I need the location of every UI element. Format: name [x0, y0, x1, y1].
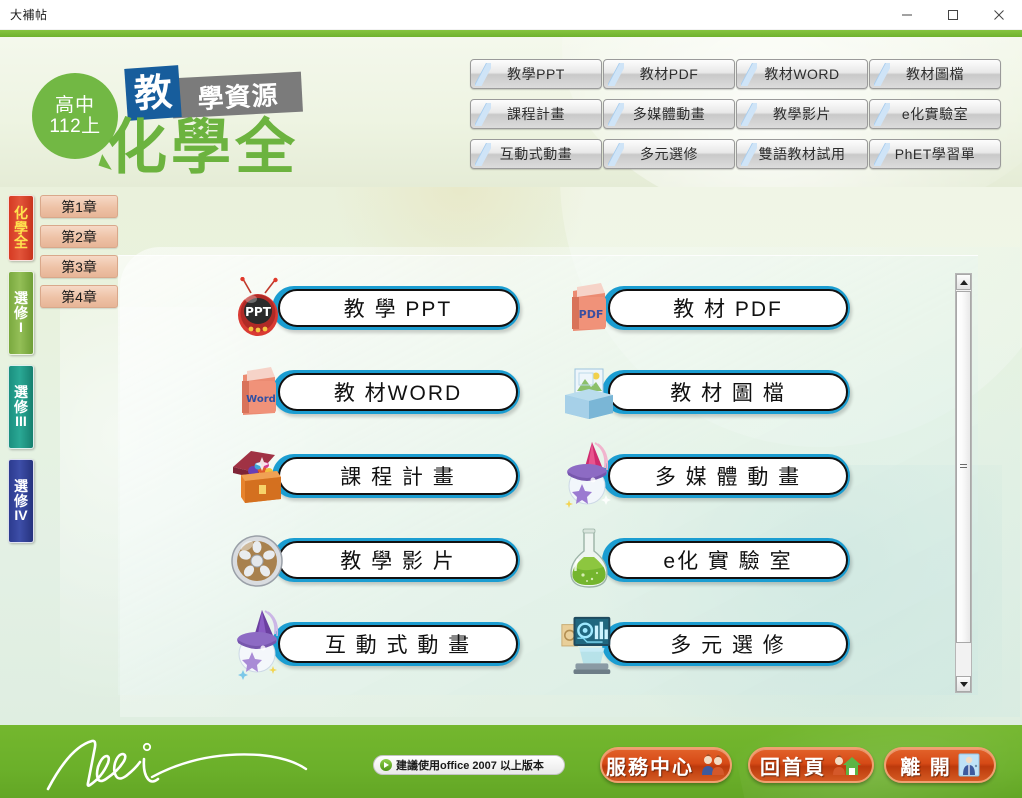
svg-text:PPT: PPT	[245, 305, 272, 319]
word-folder-icon: Word	[228, 356, 290, 428]
menu-item-images[interactable]: 教 材 圖 檔	[558, 352, 858, 436]
scroll-down-arrow-icon	[960, 682, 968, 687]
quick-button-ppt[interactable]: 教學PPT	[470, 59, 602, 89]
quick-button-label: 多媒體動畫	[633, 104, 706, 124]
chapter-button-3[interactable]: 第3章	[40, 255, 118, 278]
menu-item-word[interactable]: 教 材WORD Word	[228, 352, 528, 436]
menu-item-label: 教 學 PPT	[278, 289, 518, 327]
tab-char: 選	[14, 479, 28, 494]
application-window: 大補帖 高中 112上 學資源	[0, 0, 1022, 798]
flask-icon	[558, 524, 620, 596]
menu-item-ppt[interactable]: 教 學 PPT PPT	[228, 268, 528, 352]
menu-item-video[interactable]: 教 學 影 片	[228, 520, 528, 604]
chapter-list: 第1章 第2章 第3章 第4章	[40, 195, 118, 315]
scroll-up-button[interactable]	[956, 274, 971, 290]
menu-item-label: 教 學 影 片	[278, 541, 518, 579]
menu-pill: 課 程 計 畫	[272, 454, 520, 498]
tab-char: IV	[14, 508, 27, 523]
menu-item-label: 課 程 計 畫	[278, 457, 518, 495]
maximize-button[interactable]	[930, 0, 976, 30]
quick-access-buttons: 教學PPT 教材PDF 教材WORD 教材圖檔 課程計畫 多媒體動畫	[470, 59, 1001, 169]
menu-item-syllabus[interactable]: 課 程 計 畫	[228, 436, 528, 520]
vertical-scrollbar[interactable]	[955, 273, 972, 693]
menu-pill: 互 動 式 動 畫	[272, 622, 520, 666]
menu-pill: 教 材WORD	[272, 370, 520, 414]
menu-pill: 多 元 選 修	[602, 622, 850, 666]
chapter-button-2[interactable]: 第2章	[40, 225, 118, 248]
close-button[interactable]	[976, 0, 1022, 30]
tab-char: 選	[14, 291, 28, 306]
menu-item-label: 多 媒 體 動 畫	[608, 457, 848, 495]
menu-item-elective[interactable]: 多 元 選 修	[558, 604, 858, 688]
content-stage: 化 學 全 選 修 I 選 修 III 選 修 IV 第1章 第2章	[0, 187, 1022, 725]
people-icon	[700, 753, 726, 777]
quick-button-multimedia[interactable]: 多媒體動畫	[603, 99, 735, 129]
play-icon	[380, 759, 392, 771]
home-label: 回首頁	[760, 751, 826, 780]
quick-button-elab[interactable]: e化實驗室	[869, 99, 1001, 129]
menu-item-interactive[interactable]: 互 動 式 動 畫	[228, 604, 528, 688]
subject-tabs: 化 學 全 選 修 I 選 修 III 選 修 IV	[8, 195, 36, 553]
quick-button-label: 雙語教材試用	[759, 144, 846, 164]
home-icon	[832, 753, 862, 777]
grade-term: 112上	[49, 116, 100, 137]
quick-button-label: 教學PPT	[507, 64, 565, 84]
scroll-up-arrow-icon	[960, 280, 968, 285]
tab-char: 修	[14, 494, 28, 509]
quick-button-images[interactable]: 教材圖檔	[869, 59, 1001, 89]
menu-item-label: 教 材 PDF	[608, 289, 848, 327]
resource-panel: 教 學 PPT PPT	[118, 255, 978, 695]
tab-char: 化	[14, 206, 28, 221]
service-center-button[interactable]: 服務中心	[600, 747, 732, 783]
service-center-label: 服務中心	[606, 751, 694, 780]
menu-item-label: 互 動 式 動 畫	[278, 625, 518, 663]
quick-button-phet[interactable]: PhET學習單	[869, 139, 1001, 169]
quick-button-word[interactable]: 教材WORD	[736, 59, 868, 89]
window-title: 大補帖	[0, 6, 48, 23]
tab-char: III	[15, 414, 27, 429]
grade-level: 高中	[55, 95, 95, 116]
page-header: 高中 112上 學資源 教 化學全 教學PPT 教材PDF 教材WORD	[0, 37, 1022, 187]
menu-item-label: 多 元 選 修	[608, 625, 848, 663]
pencil-icon	[874, 103, 890, 126]
office-note-text: 建議使用office 2007 以上版本	[396, 757, 544, 773]
resource-label: 學資源	[173, 72, 303, 119]
quick-button-pdf[interactable]: 教材PDF	[603, 59, 735, 89]
menu-pill: e化 實 驗 室	[602, 538, 850, 582]
exit-label: 離 開	[900, 751, 952, 780]
quick-button-label: 教材圖檔	[906, 64, 964, 84]
tab-char: 學	[14, 221, 28, 236]
thumb-grip-icon	[960, 464, 967, 470]
menu-pill: 教 材 圖 檔	[602, 370, 850, 414]
pencil-icon	[874, 63, 890, 86]
treasure-box-icon	[228, 440, 290, 512]
quick-button-label: 課程計畫	[507, 104, 565, 124]
sidebar-item-elective-1[interactable]: 選 修 I	[8, 271, 34, 355]
menu-item-elab[interactable]: e化 實 驗 室	[558, 520, 858, 604]
pencil-icon	[608, 143, 624, 166]
quick-button-label: e化實驗室	[902, 104, 968, 124]
menu-pill: 多 媒 體 動 畫	[602, 454, 850, 498]
quick-button-label: PhET學習單	[895, 144, 976, 164]
brand-logo-nani	[40, 729, 340, 795]
sidebar-item-elective-3[interactable]: 選 修 III	[8, 365, 34, 449]
resource-menu-grid: 教 學 PPT PPT	[228, 268, 888, 688]
quick-button-bilingual[interactable]: 雙語教材試用	[736, 139, 868, 169]
image-archive-icon	[558, 356, 620, 428]
tab-char: 全	[14, 235, 28, 250]
menu-pill: 教 學 PPT	[272, 286, 520, 330]
menu-item-multimedia[interactable]: 多 媒 體 動 畫	[558, 436, 858, 520]
quick-button-label: 教材PDF	[640, 64, 699, 84]
pencil-icon	[874, 143, 890, 166]
pencil-icon	[741, 143, 757, 166]
office-version-note: 建議使用office 2007 以上版本	[373, 755, 565, 775]
menu-item-label: 教 材 圖 檔	[608, 373, 848, 411]
menu-item-pdf[interactable]: 教 材 PDF PDF	[558, 268, 858, 352]
maximize-icon	[947, 9, 959, 21]
exit-button[interactable]: 離 開	[884, 747, 996, 783]
menu-pill: 教 材 PDF	[602, 286, 850, 330]
tab-char: 修	[14, 400, 28, 415]
close-icon	[993, 9, 1005, 21]
ppt-tv-icon: PPT	[228, 272, 290, 344]
pencil-icon	[475, 63, 491, 86]
grade-bubble: 高中 112上	[32, 73, 118, 159]
scrollbar-thumb[interactable]	[956, 291, 971, 643]
quick-button-label: 教學影片	[773, 104, 831, 124]
exit-door-icon	[958, 753, 980, 777]
tab-char: 選	[14, 385, 28, 400]
quick-button-syllabus[interactable]: 課程計畫	[470, 99, 602, 129]
menu-item-label: e化 實 驗 室	[608, 541, 848, 579]
magic-hat-pink-icon	[558, 440, 620, 512]
quick-button-elective[interactable]: 多元選修	[603, 139, 735, 169]
tab-char: I	[19, 320, 23, 335]
brand-logo: 高中 112上 學資源 教 化學全	[22, 45, 322, 185]
sidebar-item-elective-4[interactable]: 選 修 IV	[8, 459, 34, 543]
sidebar-item-chem-all[interactable]: 化 學 全	[8, 195, 34, 261]
menu-item-label: 教 材WORD	[278, 373, 518, 411]
scroll-down-button[interactable]	[956, 676, 971, 692]
title-bar: 大補帖	[0, 0, 1022, 30]
svg-text:PDF: PDF	[579, 308, 604, 321]
pencil-icon	[475, 143, 491, 166]
page-title: 化學全	[107, 118, 299, 178]
tab-char: 修	[14, 306, 28, 321]
quick-button-label: 互動式動畫	[500, 144, 573, 164]
film-reel-icon	[228, 524, 290, 596]
pencil-icon	[475, 103, 491, 126]
monitor-chart-icon	[558, 608, 620, 680]
pencil-icon	[741, 63, 757, 86]
minimize-button[interactable]	[884, 0, 930, 30]
svg-text:Word: Word	[246, 394, 276, 405]
pencil-icon	[608, 63, 624, 86]
quick-button-video[interactable]: 教學影片	[736, 99, 868, 129]
quick-button-interactive[interactable]: 互動式動畫	[470, 139, 602, 169]
top-green-rule	[0, 30, 1022, 37]
home-button[interactable]: 回首頁	[748, 747, 874, 783]
chapter-button-4[interactable]: 第4章	[40, 285, 118, 308]
quick-button-label: 教材WORD	[764, 64, 839, 84]
chapter-button-1[interactable]: 第1章	[40, 195, 118, 218]
quick-button-label: 多元選修	[640, 144, 698, 164]
menu-pill: 教 學 影 片	[272, 538, 520, 582]
pencil-icon	[741, 103, 757, 126]
magic-hat-purple-icon	[228, 608, 290, 680]
pdf-folder-icon: PDF	[558, 272, 620, 344]
minimize-icon	[901, 9, 913, 21]
pencil-icon	[608, 103, 624, 126]
